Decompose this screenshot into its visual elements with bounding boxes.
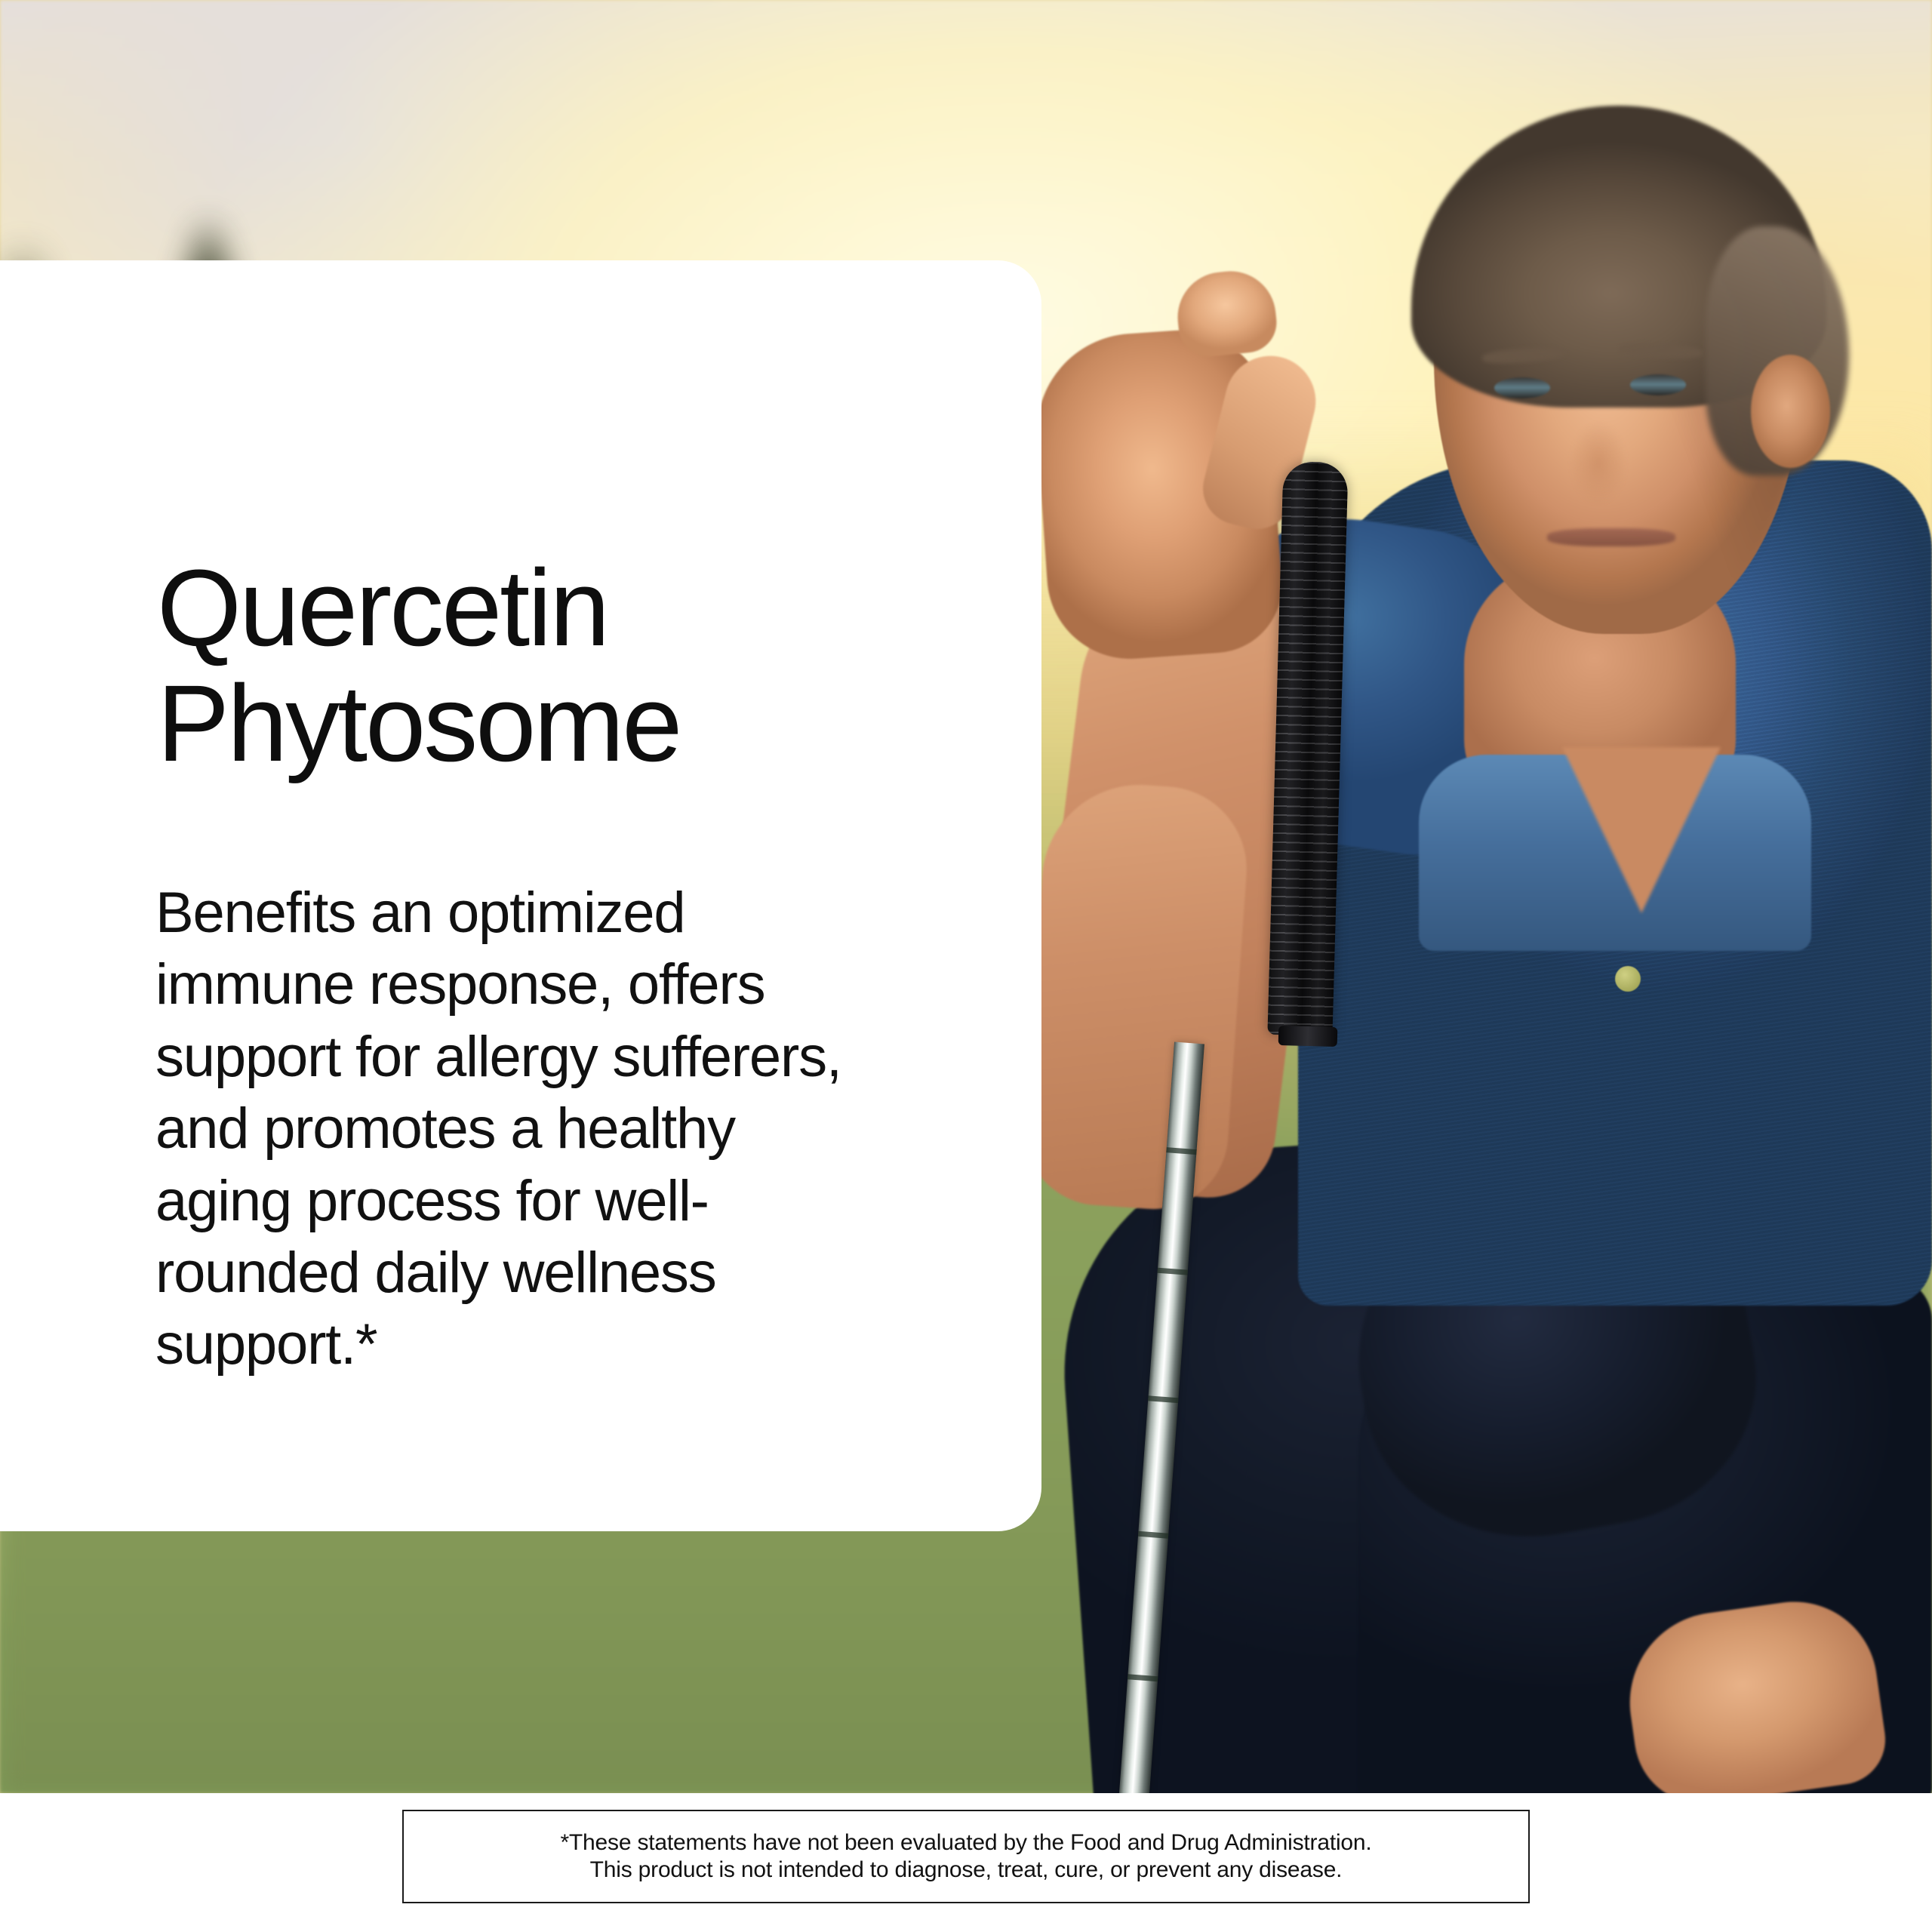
fda-disclaimer-text: *These statements have not been evaluate… xyxy=(560,1829,1371,1884)
shaft-step xyxy=(1128,1674,1158,1681)
fda-disclaimer-box: *These statements have not been evaluate… xyxy=(402,1810,1530,1903)
golfer-eye-right xyxy=(1630,374,1686,395)
golfer-nose xyxy=(1562,400,1635,506)
golfer-ear xyxy=(1751,355,1830,468)
shaft-step xyxy=(1148,1395,1178,1403)
golfer-eye-left xyxy=(1494,377,1550,398)
golfer-figure xyxy=(966,0,1932,1793)
grip-ferrule xyxy=(1278,1026,1338,1047)
product-description: Benefits an optimized immune response, o… xyxy=(155,877,880,1381)
polo-v-placket xyxy=(1562,747,1721,913)
shaft-step xyxy=(1158,1268,1188,1275)
shaft-step xyxy=(1138,1531,1168,1539)
golfer-fingertip xyxy=(1174,267,1280,360)
polo-button xyxy=(1615,966,1641,992)
product-title: Quercetin Phytosome xyxy=(157,551,680,781)
shaft-step xyxy=(1166,1147,1196,1155)
golfer-mouth xyxy=(1547,528,1675,546)
golfer-forearm xyxy=(1020,778,1252,1214)
